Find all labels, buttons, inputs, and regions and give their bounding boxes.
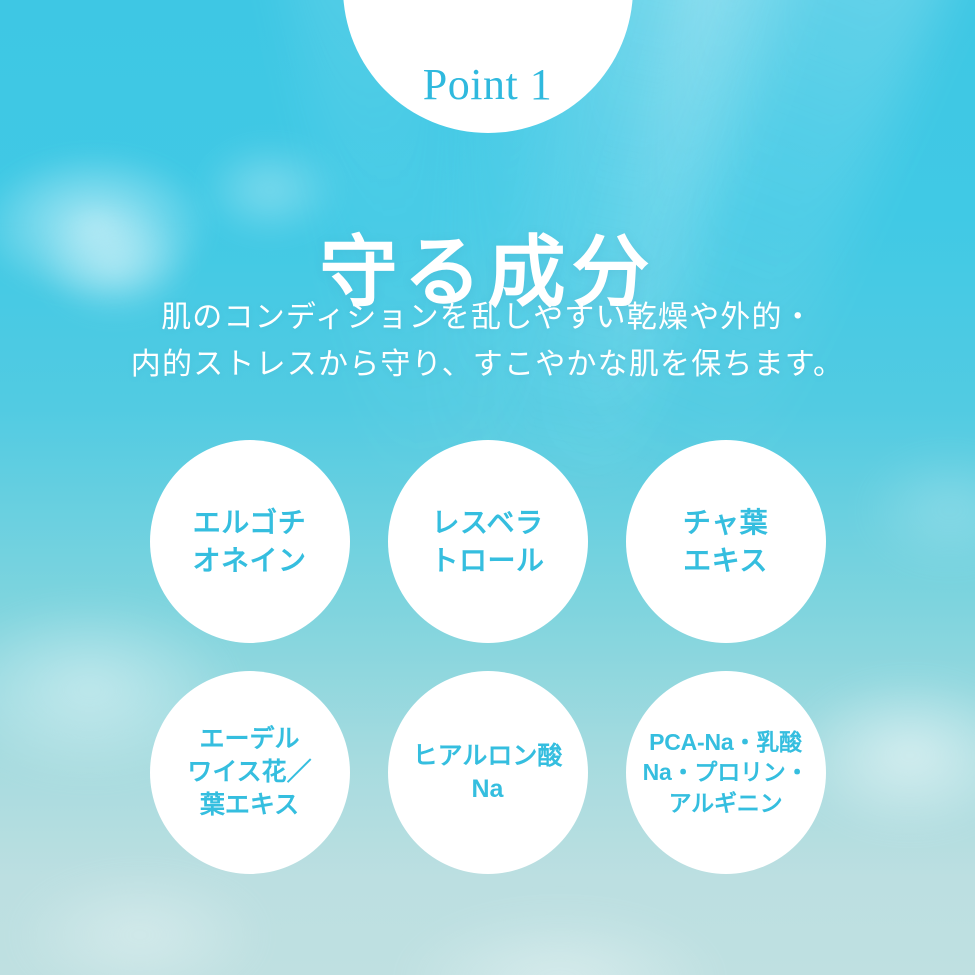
ingredient-circle: チャ葉 エキス bbox=[626, 440, 826, 643]
ingredient-row: エーデル ワイス花／ 葉エキス ヒアルロン酸 Na PCA-Na・乳酸 Na・プ… bbox=[0, 671, 975, 874]
ingredient-label: レスベラ トロール bbox=[430, 504, 544, 580]
subtitle-line-2: 内的ストレスから守り、すこやかな肌を保ちます。 bbox=[0, 342, 975, 389]
ingredient-circle: エーデル ワイス花／ 葉エキス bbox=[150, 671, 350, 874]
ingredient-circle-grid: エルゴチ オネイン レスベラ トロール チャ葉 エキス エーデル ワイス花／ 葉… bbox=[0, 440, 975, 874]
ingredient-row: エルゴチ オネイン レスベラ トロール チャ葉 エキス bbox=[0, 440, 975, 643]
ingredient-circle: エルゴチ オネイン bbox=[150, 440, 350, 643]
point-badge-label: Point 1 bbox=[343, 63, 633, 107]
ingredient-circle: レスベラ トロール bbox=[388, 440, 588, 643]
ingredient-circle: PCA-Na・乳酸 Na・プロリン・ アルギニン bbox=[626, 671, 826, 874]
poster-canvas: Point 1 守る成分 肌のコンディションを乱しやすい乾燥や外的・ 内的ストレ… bbox=[0, 0, 975, 975]
ingredient-circle: ヒアルロン酸 Na bbox=[388, 671, 588, 874]
subtitle: 肌のコンディションを乱しやすい乾燥や外的・ 内的ストレスから守り、すこやかな肌を… bbox=[0, 295, 975, 388]
ingredient-label: ヒアルロン酸 Na bbox=[413, 740, 563, 806]
ingredient-label: エルゴチ オネイン bbox=[192, 504, 306, 580]
point-badge: Point 1 bbox=[343, 0, 633, 133]
ingredient-label: エーデル ワイス花／ 葉エキス bbox=[187, 723, 311, 822]
subtitle-line-1: 肌のコンディションを乱しやすい乾燥や外的・ bbox=[0, 295, 975, 342]
cloud-icon bbox=[330, 880, 790, 975]
ingredient-label: チャ葉 エキス bbox=[683, 504, 768, 580]
ingredient-label: PCA-Na・乳酸 Na・プロリン・ アルギニン bbox=[643, 727, 809, 818]
